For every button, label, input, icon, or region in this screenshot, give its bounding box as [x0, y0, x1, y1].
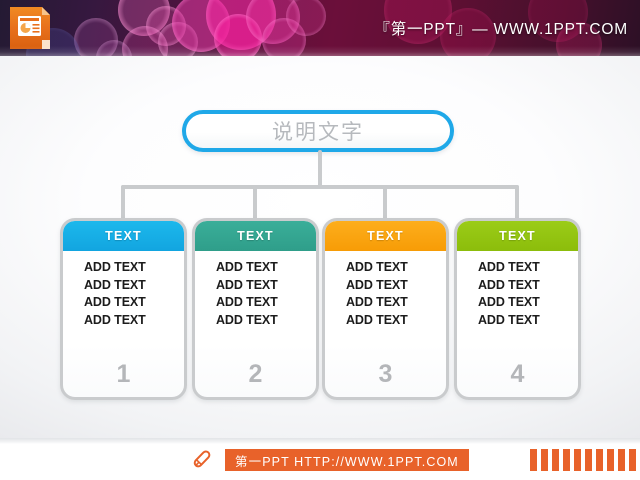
card-body-2: ADD TEXT ADD TEXT ADD TEXT ADD TEXT [195, 259, 316, 329]
card-body-3: ADD TEXT ADD TEXT ADD TEXT ADD TEXT [325, 259, 446, 329]
card-body-4: ADD TEXT ADD TEXT ADD TEXT ADD TEXT [457, 259, 578, 329]
card-number-2: 2 [195, 360, 316, 389]
card-header-2: TEXT [195, 221, 316, 251]
bokeh-circle [246, 0, 300, 44]
card-line: ADD TEXT [325, 259, 446, 277]
card-3[interactable]: TEXT ADD TEXT ADD TEXT ADD TEXT ADD TEXT… [322, 218, 449, 400]
bokeh-circle [146, 6, 186, 46]
pencil-icon [188, 447, 214, 473]
card-line: ADD TEXT [63, 294, 184, 312]
card-line: ADD TEXT [325, 294, 446, 312]
card-number-3: 3 [325, 360, 446, 389]
card-row: TEXT ADD TEXT ADD TEXT ADD TEXT ADD TEXT… [0, 218, 640, 402]
card-line: ADD TEXT [63, 277, 184, 295]
diagram-title-text: 说明文字 [272, 116, 364, 146]
bokeh-circle [118, 0, 170, 36]
header-bottom-shine [0, 46, 640, 56]
card-number-1: 1 [63, 360, 184, 389]
card-1[interactable]: TEXT ADD TEXT ADD TEXT ADD TEXT ADD TEXT… [60, 218, 187, 400]
footer-bar: 第一PPT HTTP://WWW.1PPT.COM [0, 438, 640, 480]
bokeh-circle [206, 0, 276, 50]
card-line: ADD TEXT [457, 312, 578, 330]
card-line: ADD TEXT [63, 312, 184, 330]
footer-url-text: 第一PPT HTTP://WWW.1PPT.COM [235, 451, 459, 470]
card-line: ADD TEXT [325, 312, 446, 330]
header-banner: 『第一PPT』— WWW.1PPT.COM [0, 0, 640, 56]
card-line: ADD TEXT [325, 277, 446, 295]
card-line: ADD TEXT [457, 277, 578, 295]
card-header-1: TEXT [63, 221, 184, 251]
card-line: ADD TEXT [195, 312, 316, 330]
card-line: ADD TEXT [63, 259, 184, 277]
card-line: ADD TEXT [195, 277, 316, 295]
card-header-label: TEXT [105, 229, 142, 243]
card-number-4: 4 [457, 360, 578, 389]
footer-url-bar: 第一PPT HTTP://WWW.1PPT.COM [225, 449, 469, 471]
card-header-3: TEXT [325, 221, 446, 251]
diagram-title-box[interactable]: 说明文字 [182, 110, 454, 152]
card-2[interactable]: TEXT ADD TEXT ADD TEXT ADD TEXT ADD TEXT… [192, 218, 319, 400]
footer-stripes-decoration [530, 449, 640, 471]
card-header-4: TEXT [457, 221, 578, 251]
card-body-1: ADD TEXT ADD TEXT ADD TEXT ADD TEXT [63, 259, 184, 329]
card-line: ADD TEXT [457, 259, 578, 277]
footer-divider [0, 438, 640, 444]
bokeh-circle [286, 0, 326, 36]
slide-canvas: 『第一PPT』— WWW.1PPT.COM 说明文字 TEXT [0, 0, 640, 480]
card-line: ADD TEXT [457, 294, 578, 312]
card-header-label: TEXT [367, 229, 404, 243]
card-header-label: TEXT [237, 229, 274, 243]
card-header-label: TEXT [499, 229, 536, 243]
card-line: ADD TEXT [195, 294, 316, 312]
card-line: ADD TEXT [195, 259, 316, 277]
card-4[interactable]: TEXT ADD TEXT ADD TEXT ADD TEXT ADD TEXT… [454, 218, 581, 400]
powerpoint-document-icon [8, 4, 52, 52]
bokeh-circle [172, 0, 230, 52]
